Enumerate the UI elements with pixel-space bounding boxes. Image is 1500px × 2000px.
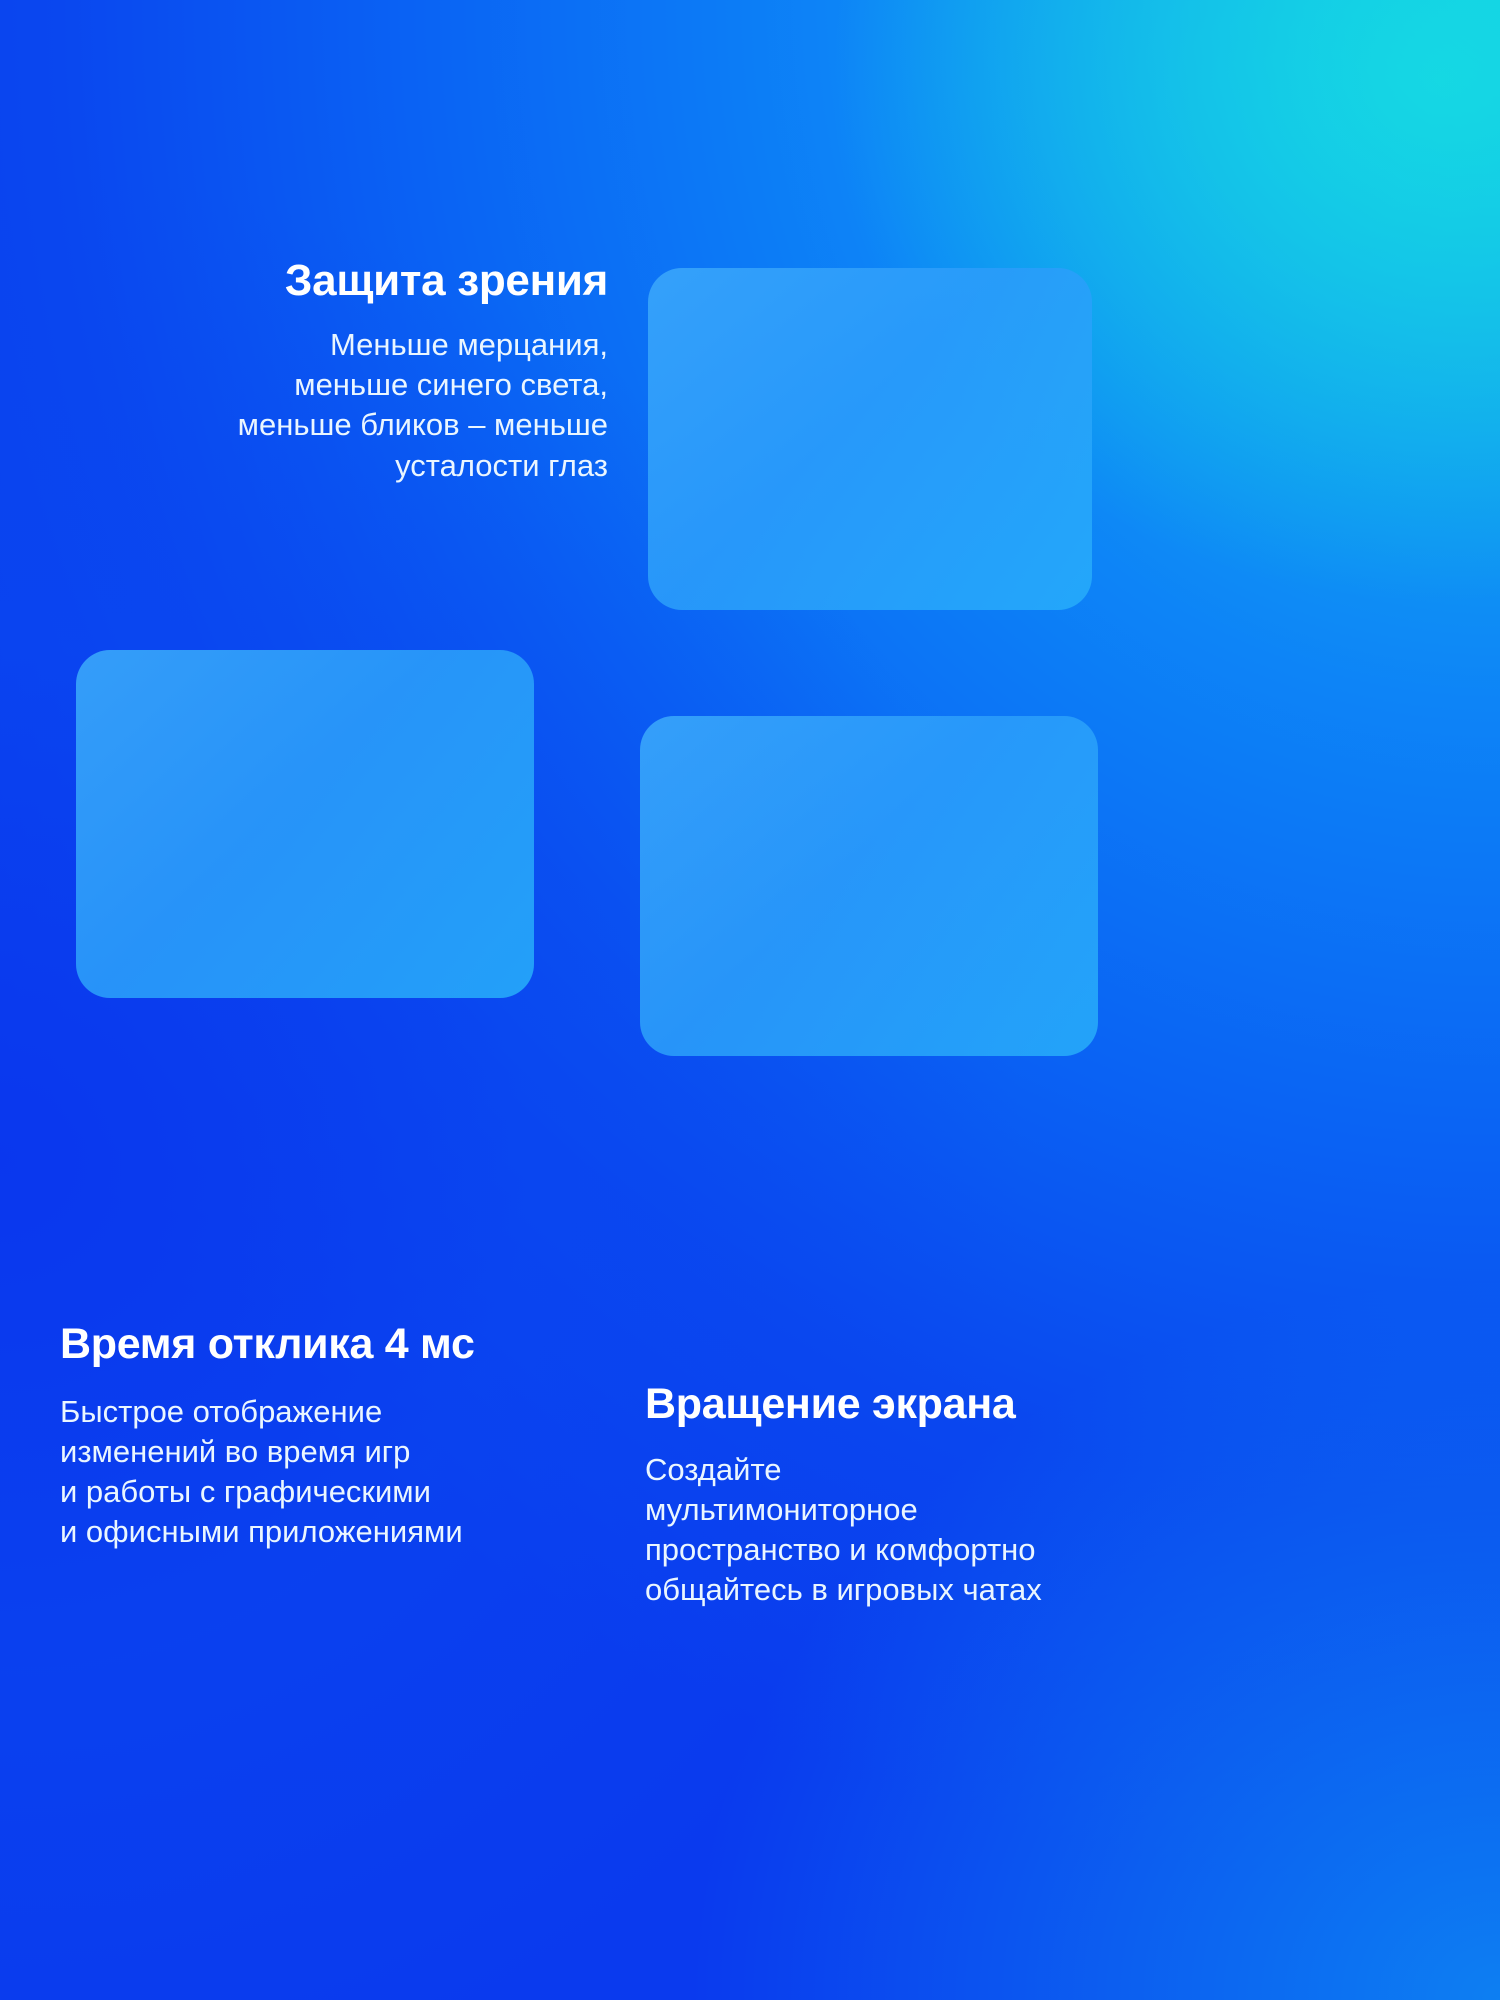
response-time-body: Быстрое отображение изменений во время и… <box>60 1392 590 1553</box>
screen-rotation-text-block: Вращение экрана Создайте мультимониторно… <box>645 1382 1145 1611</box>
response-time-body-line: и офисными приложениями <box>60 1512 590 1552</box>
screen-rotation-body-line: общайтесь в игровых чатах <box>645 1570 1145 1610</box>
screen-rotation-body-line: Создайте <box>645 1450 1145 1490</box>
screen-rotation-heading: Вращение экрана <box>645 1382 1145 1428</box>
screen-rotation-body-line: мультимониторное <box>645 1490 1145 1530</box>
response-time-body-line: изменений во время игр <box>60 1432 590 1472</box>
eye-care-text-block: Защита зрения Меньше мерцания, меньше си… <box>60 258 608 486</box>
screen-rotation-image-card: AOC <box>640 716 1098 1056</box>
eye-care-heading: Защита зрения <box>60 258 608 305</box>
eye-care-body: Меньше мерцания, меньше синего света, ме… <box>60 325 608 486</box>
response-time-text-block: Время отклика 4 мс Быстрое отображение и… <box>60 1322 590 1553</box>
eye-care-body-line: Меньше мерцания, <box>60 325 608 365</box>
response-time-heading: Время отклика 4 мс <box>60 1322 590 1368</box>
eye-care-body-line: меньше синего света, <box>60 365 608 405</box>
screen-rotation-body-line: пространство и комфортно <box>645 1530 1145 1570</box>
screen-rotation-body: Создайте мультимониторное пространство и… <box>645 1450 1145 1611</box>
response-time-body-line: и работы с графическими <box>60 1472 590 1512</box>
eye-care-body-line: меньше бликов – меньше <box>60 405 608 445</box>
response-time-body-line: Быстрое отображение <box>60 1392 590 1432</box>
eye-care-body-line: усталости глаз <box>60 446 608 486</box>
response-time-image-card: PORTKEY GAMES HOGWARTS LEGACY AOC <box>76 650 534 998</box>
eye-care-image-card <box>648 268 1092 610</box>
